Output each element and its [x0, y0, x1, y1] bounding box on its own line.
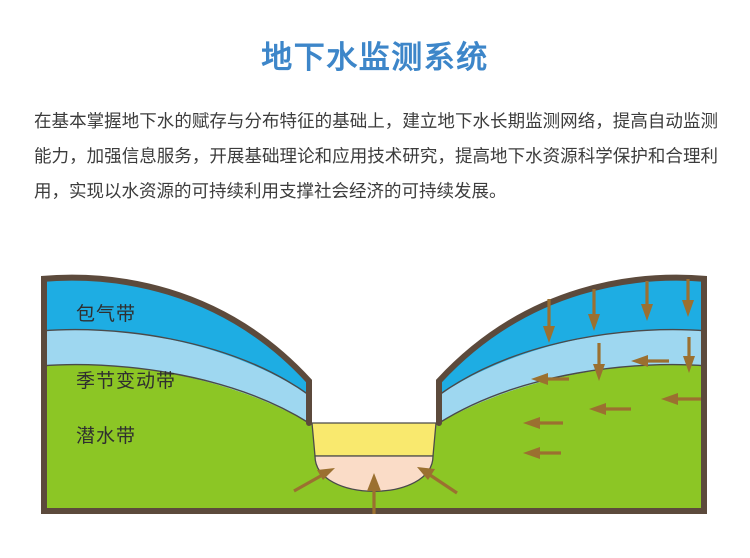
zone-label-phreatic: 潜水带 [76, 421, 136, 448]
groundwater-diagram: 包气带 季节变动带 潜水带 [41, 271, 707, 514]
intro-paragraph: 在基本掌握地下水的赋存与分布特征的基础上，建立地下水长期监测网络，提高自动监测能… [34, 104, 718, 209]
page-root: 地下水监测系统 在基本掌握地下水的赋存与分布特征的基础上，建立地下水长期监测网络… [0, 0, 750, 558]
zone-label-vadose: 包气带 [76, 299, 136, 326]
zone-label-seasonal: 季节变动带 [76, 366, 176, 393]
page-title: 地下水监测系统 [0, 38, 750, 78]
surface-water-body [312, 423, 436, 456]
